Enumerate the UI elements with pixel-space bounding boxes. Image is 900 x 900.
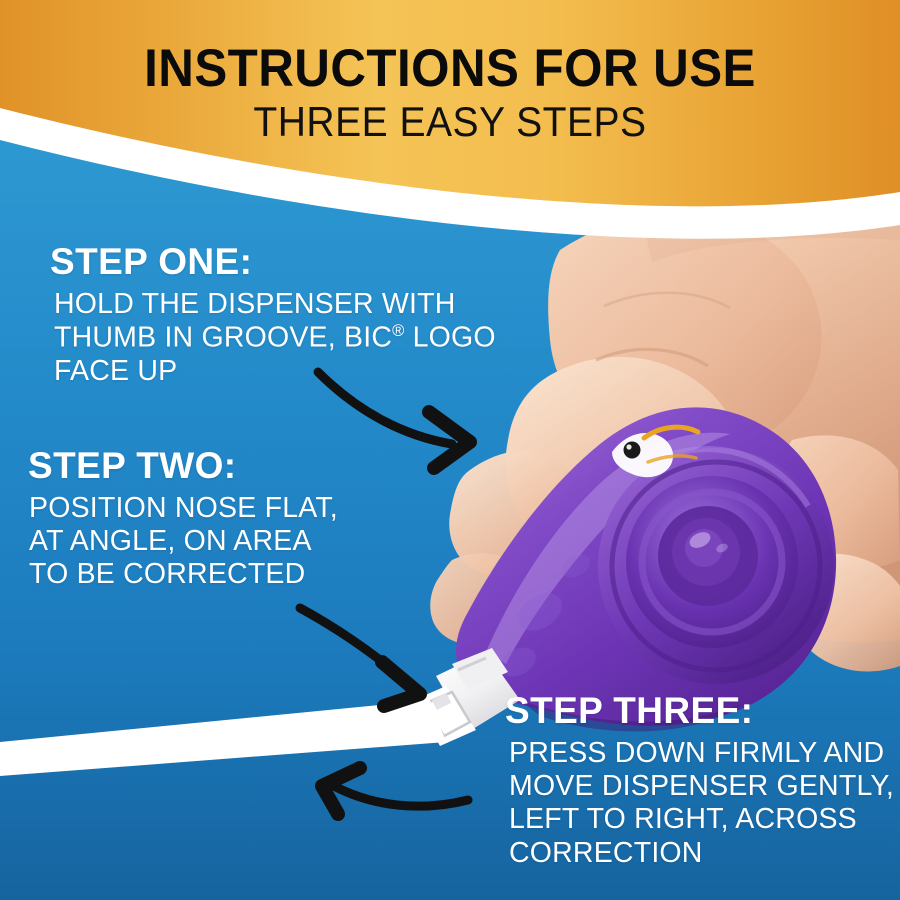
step-three-line-1: PRESS DOWN FIRMLY AND [509,737,894,770]
step-two-body: POSITION NOSE FLAT, AT ANGLE, ON AREA TO… [29,492,338,592]
arrow-correction-direction [322,768,468,814]
step-two-line-3: TO BE CORRECTED [29,558,338,591]
step-three-body: PRESS DOWN FIRMLY AND MOVE DISPENSER GEN… [509,737,894,870]
step-three-line-3: LEFT TO RIGHT, ACROSS [509,803,894,836]
step-one-line-2: THUMB IN GROOVE, BIC® LOGO [54,321,496,355]
step-one-block: STEP ONE: HOLD THE DISPENSER WITH THUMB … [50,243,496,388]
step-three-line-4: CORRECTION [509,837,894,870]
step-two-line-2: AT ANGLE, ON AREA [29,525,338,558]
step-two-block: STEP TWO: POSITION NOSE FLAT, AT ANGLE, … [28,447,338,592]
infographic-poster: INSTRUCTIONS FOR USE THREE EASY STEPS ST… [0,0,900,900]
step-one-line-1: HOLD THE DISPENSER WITH [54,288,496,321]
step-one-heading: STEP ONE: [50,243,496,281]
step-three-line-2: MOVE DISPENSER GENTLY, [509,770,894,803]
registered-trademark-icon: ® [392,321,404,340]
arrow-to-dispenser-nose [300,608,420,706]
step-one-line-3: FACE UP [54,355,496,388]
step-one-body: HOLD THE DISPENSER WITH THUMB IN GROOVE,… [54,288,496,389]
step-three-block: STEP THREE: PRESS DOWN FIRMLY AND MOVE D… [505,692,894,870]
step-two-heading: STEP TWO: [28,447,338,485]
step-three-heading: STEP THREE: [505,692,894,730]
step-two-line-1: POSITION NOSE FLAT, [29,492,338,525]
